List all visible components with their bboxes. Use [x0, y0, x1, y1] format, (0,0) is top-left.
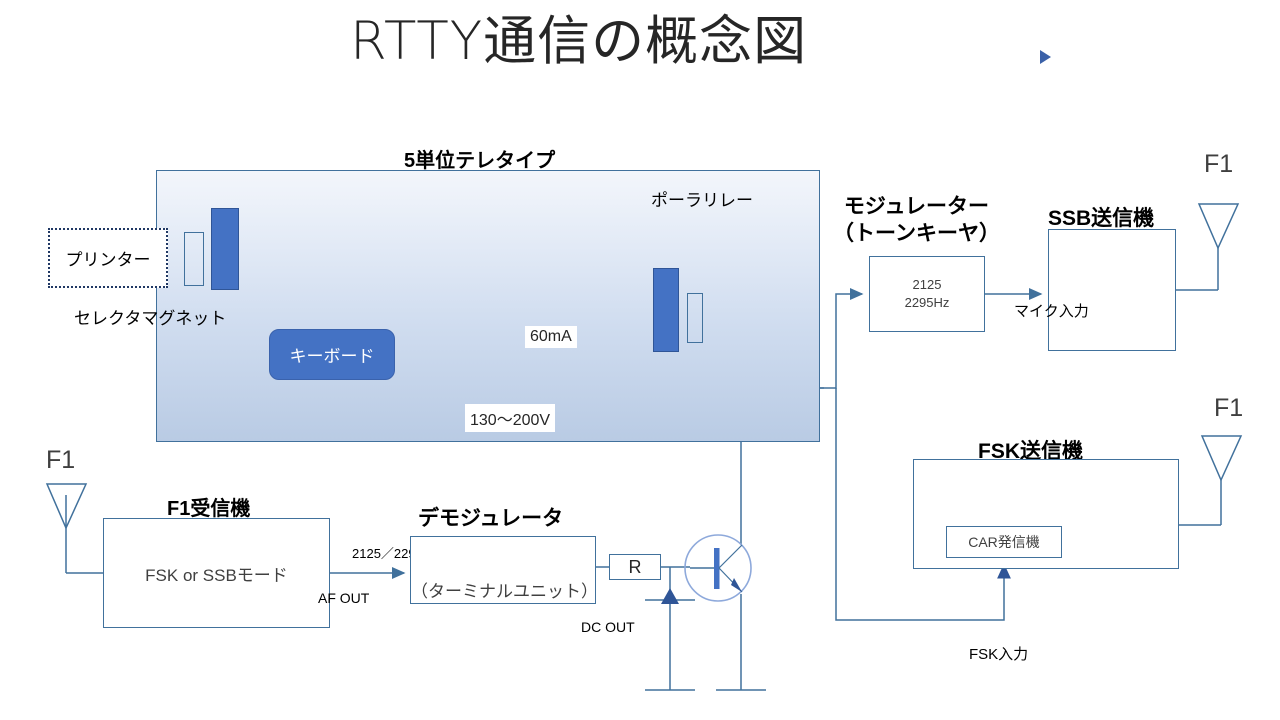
current-label: 60mA — [525, 326, 577, 348]
car-oscillator-box[interactable]: CAR発信機 — [946, 526, 1062, 558]
receiver-heading: F1受信機 — [167, 492, 250, 521]
keyboard-box[interactable]: キーボード — [269, 329, 395, 380]
modulator-heading-line2: （トーンキーヤ） — [833, 221, 1000, 248]
selector-magnet-outline — [184, 232, 204, 286]
selector-magnet-label: セレクタマグネット — [74, 304, 226, 329]
modulator-freq-line1: 2125 — [913, 276, 942, 294]
terminal-unit-label: （ターミナルユニット） — [411, 577, 595, 602]
fsk-antenna-label: F1 — [1214, 394, 1243, 423]
resistor-box[interactable]: R — [609, 554, 661, 580]
polar-relay-coil — [653, 268, 679, 352]
teletype-heading: 5単位テレタイプ — [404, 144, 555, 173]
ssb-antenna-label: F1 — [1204, 150, 1233, 179]
polar-relay-armature-frame — [687, 293, 703, 343]
modulator-heading-line1: モジュレーター — [833, 194, 1000, 221]
dc-out-label: DC OUT — [581, 619, 635, 635]
mic-input-label: マイク入力 — [1014, 300, 1089, 321]
receiver-antenna-label: F1 — [46, 446, 75, 475]
transistor-symbol — [685, 535, 751, 601]
polar-relay-label: ポーラリレー — [651, 186, 753, 211]
selector-magnet-core — [211, 208, 239, 290]
modulator-box[interactable]: 2125 2295Hz — [869, 256, 985, 332]
printer-label: プリンター — [50, 246, 166, 271]
af-out-label: AF OUT — [318, 590, 369, 606]
demodulator-box[interactable]: （ターミナルユニット） — [410, 536, 596, 604]
ssb-transmitter-heading: SSB送信機 — [1048, 202, 1154, 232]
modulator-heading: モジュレーター （トーンキーヤ） — [833, 194, 1000, 248]
receiver-box[interactable]: FSK or SSBモード — [103, 518, 330, 628]
voltage-label: 130〜200V — [465, 404, 555, 432]
modulator-freq-line2: 2295Hz — [905, 294, 950, 312]
printer-box[interactable]: プリンター — [48, 228, 168, 288]
fsk-input-label: FSK入力 — [969, 643, 1028, 664]
diagram-canvas: RTTY通信の概念図 — [0, 0, 1280, 720]
ssb-transmitter-box[interactable] — [1048, 229, 1176, 351]
demodulator-heading: デモジュレータ — [418, 502, 563, 532]
